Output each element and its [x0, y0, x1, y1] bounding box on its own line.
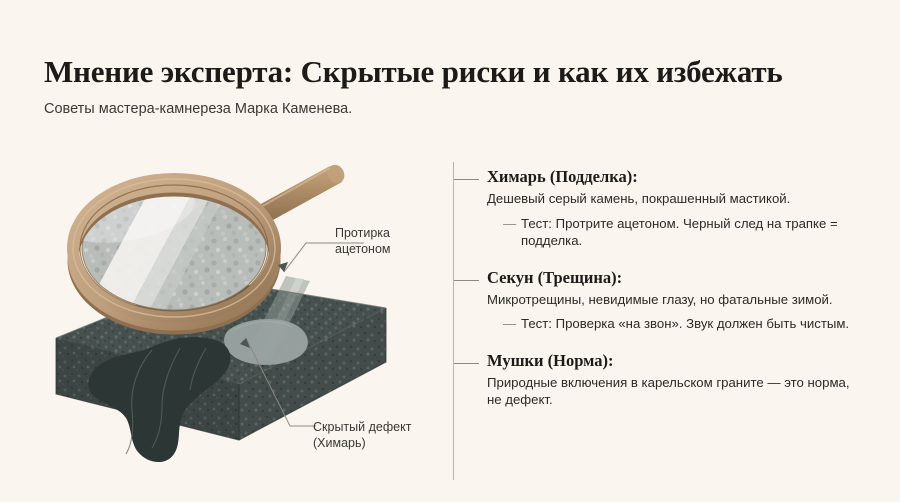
hidden-defect-blob [224, 319, 308, 365]
risk-heading: Секун (Трещина): [487, 267, 873, 288]
page-title: Мнение эксперта: Скрытые риски и как их … [44, 54, 856, 90]
risk-body: Микротрещины, невидимые глазу, но фаталь… [487, 291, 859, 309]
infographic-page: Мнение эксперта: Скрытые риски и как их … [0, 0, 900, 502]
risk-test-text: Тест: Проверка «на звон». Звук должен бы… [521, 315, 849, 333]
dash-bullet-icon: — [503, 215, 521, 250]
annotation-hidden-defect: Скрытый дефект (Химарь) [313, 419, 411, 451]
risk-body: Природные включения в карельском граните… [487, 374, 859, 409]
dash-bullet-icon: — [503, 315, 521, 333]
risk-block-mushki: Мушки (Норма): Природные включения в кар… [453, 350, 873, 409]
rail-tick [454, 280, 479, 281]
risk-block-himar: Химарь (Подделка): Дешевый серый камень,… [453, 166, 873, 250]
page-subtitle: Советы мастера-камнереза Марка Каменева. [44, 100, 856, 118]
risk-test-text: Тест: Протрите ацетоном. Черный след на … [521, 215, 855, 250]
risk-body: Дешевый серый камень, покрашенный мастик… [487, 190, 859, 208]
header: Мнение эксперта: Скрытые риски и как их … [44, 54, 856, 118]
risk-heading: Химарь (Подделка): [487, 166, 873, 187]
rail-tick [454, 363, 479, 364]
annotation-acetone-wipe: Протирка ацетоном [335, 225, 391, 257]
risk-test-item: — Тест: Проверка «на звон». Звук должен … [503, 315, 855, 333]
risk-heading: Мушки (Норма): [487, 350, 873, 371]
risk-test-item: — Тест: Протрите ацетоном. Черный след н… [503, 215, 855, 250]
risk-block-sekun: Секун (Трещина): Микротрещины, невидимые… [453, 267, 873, 333]
risk-list: Химарь (Подделка): Дешевый серый камень,… [453, 162, 873, 482]
rail-tick [454, 179, 479, 180]
